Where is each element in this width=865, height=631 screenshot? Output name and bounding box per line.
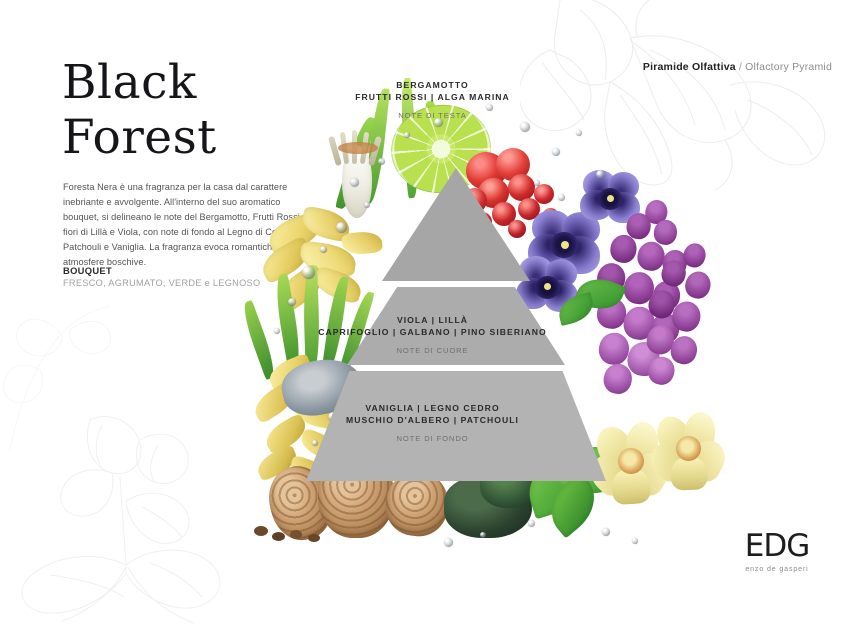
- water-droplet: [404, 132, 410, 138]
- cedar-seed: [272, 532, 285, 541]
- botanical-watermark-bottom-left: [0, 415, 250, 630]
- water-droplet: [552, 148, 560, 156]
- water-droplet: [576, 130, 582, 136]
- pyramid-label-en: Olfactory Pyramid: [745, 61, 832, 73]
- botanical-watermark-left: [0, 300, 120, 460]
- water-droplet: [288, 298, 296, 306]
- water-droplet: [520, 122, 530, 132]
- pine-cone: [382, 468, 452, 540]
- water-droplet: [274, 328, 280, 334]
- water-droplet: [328, 412, 338, 422]
- water-droplet: [364, 202, 370, 208]
- poster-canvas: Piramide Olfattiva / Olfactory Pyramid B…: [0, 0, 865, 631]
- water-droplet: [596, 170, 605, 179]
- water-droplet: [320, 246, 327, 253]
- water-droplet: [312, 440, 318, 446]
- water-droplet: [558, 194, 565, 201]
- water-droplet: [350, 178, 359, 187]
- logo-tagline: enzo de gasperi: [722, 566, 832, 573]
- pyramid-label-separator: /: [739, 61, 742, 73]
- logo-wordmark: EDG: [722, 531, 832, 562]
- title-line-1: Black: [62, 55, 197, 110]
- cedar-seed: [290, 530, 302, 539]
- water-droplet: [356, 390, 363, 397]
- water-droplet: [480, 532, 486, 538]
- fragrance-collage: [228, 60, 698, 560]
- pine-cone: [318, 452, 394, 538]
- water-droplet: [528, 520, 535, 527]
- cedar-seed: [254, 526, 268, 536]
- water-droplet: [602, 528, 610, 536]
- brand-logo: EDG enzo de gasperi: [722, 531, 832, 573]
- water-droplet: [494, 456, 502, 464]
- water-droplet: [378, 158, 385, 165]
- cedar-seed: [308, 534, 320, 542]
- water-droplet: [336, 222, 347, 233]
- vanilla-orchid: [652, 416, 730, 492]
- water-droplet: [444, 538, 453, 547]
- water-droplet: [434, 118, 443, 127]
- water-droplet: [486, 104, 493, 111]
- water-droplet: [534, 180, 540, 186]
- water-droplet: [302, 266, 315, 279]
- water-droplet: [632, 538, 638, 544]
